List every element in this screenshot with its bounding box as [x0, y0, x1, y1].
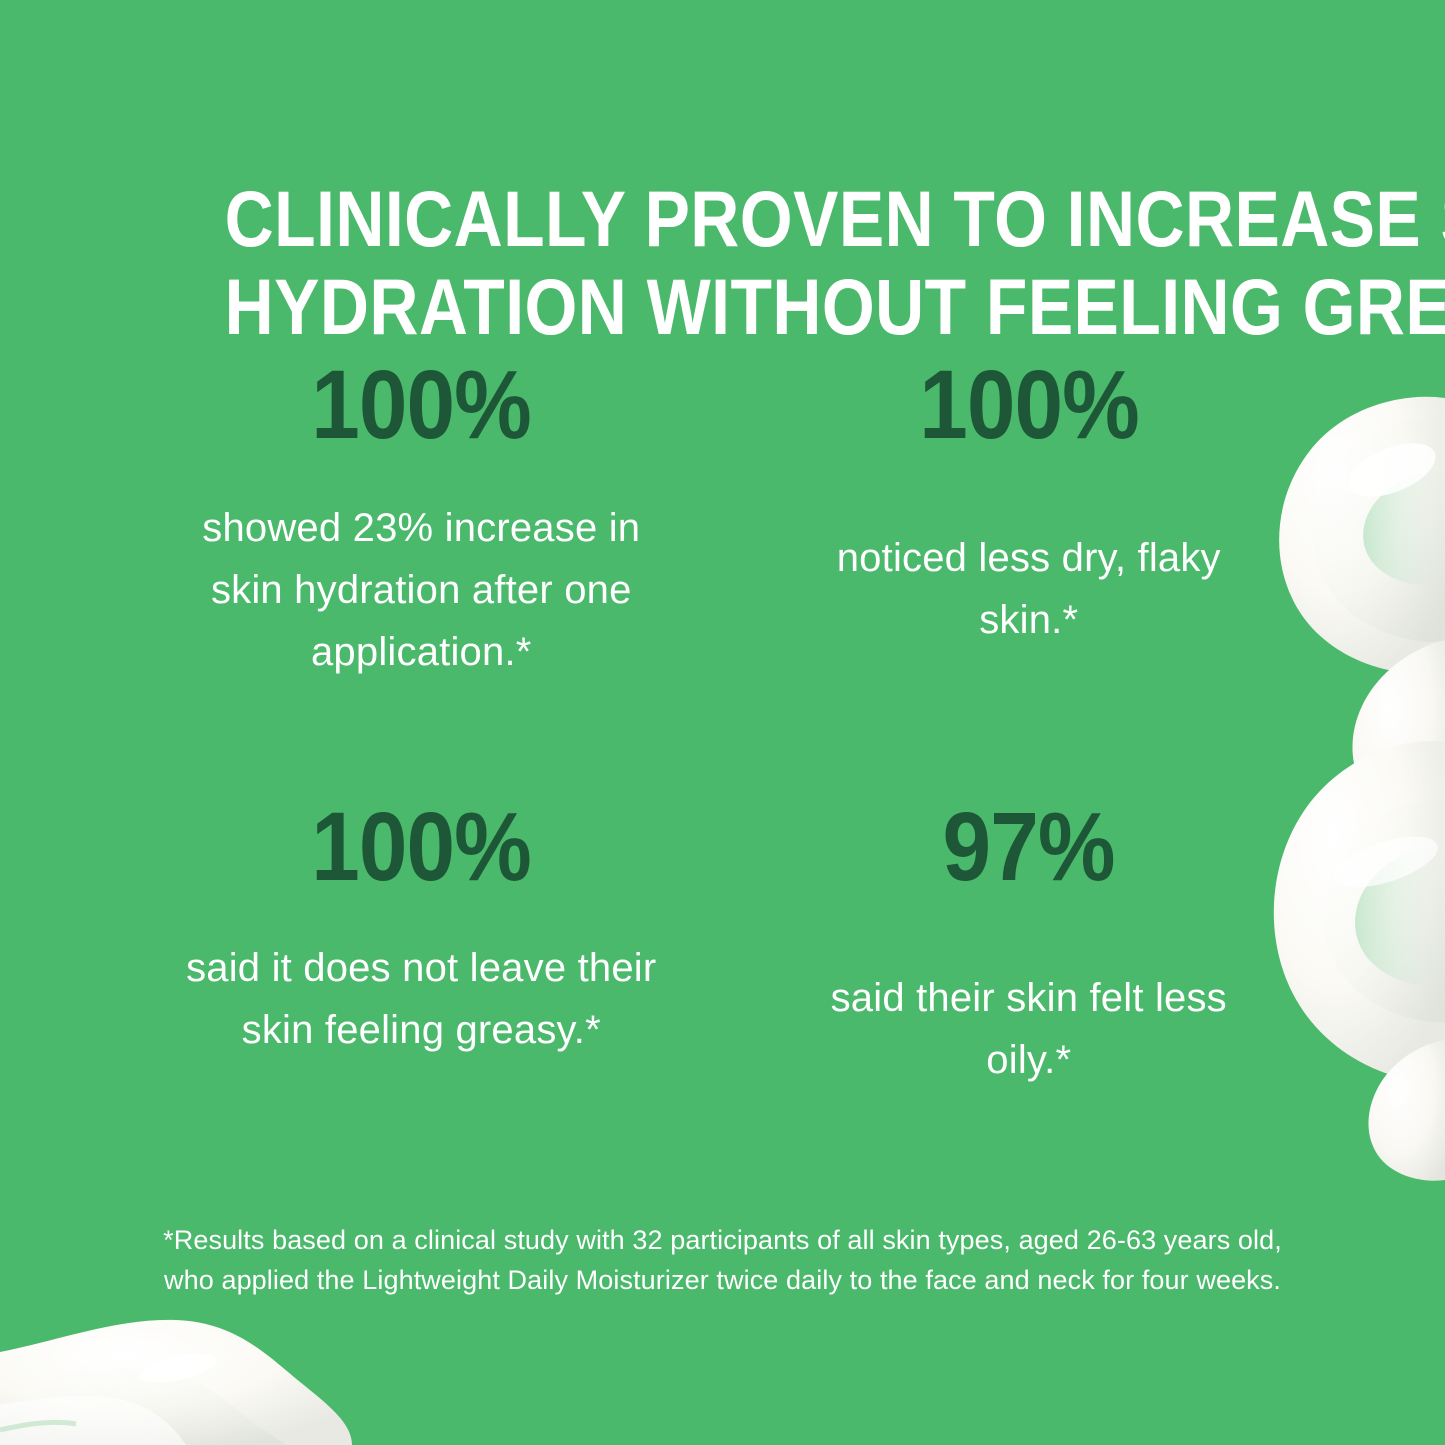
- cream-swirl-right-neck: [1352, 640, 1445, 838]
- stat-value: 97%: [943, 797, 1115, 897]
- stat-block-not-greasy: 100% said it does not leave their skin f…: [150, 775, 713, 1195]
- cream-swirl-right-tail: [1368, 1040, 1445, 1181]
- page-title: CLINICALLY PROVEN TO INCREASE SKIN HYDRA…: [225, 175, 1240, 351]
- infographic-canvas: CLINICALLY PROVEN TO INCREASE SKIN HYDRA…: [0, 0, 1445, 1445]
- stat-description: noticed less dry, flaky skin.*: [789, 527, 1269, 651]
- cream-swirl-right-upper: [1279, 397, 1445, 674]
- stat-block-less-oily: 97% said their skin felt less oily.*: [733, 775, 1296, 1195]
- stat-description: said their skin felt less oily.*: [789, 967, 1269, 1091]
- stat-block-less-flaky: 100% noticed less dry, flaky skin.*: [733, 355, 1296, 775]
- stat-value: 100%: [311, 797, 531, 897]
- stats-grid: 100% showed 23% increase in skin hydrati…: [150, 355, 1295, 1195]
- cream-swirl-bottom-left: [0, 1320, 352, 1445]
- stat-description: showed 23% increase in skin hydration af…: [181, 497, 661, 683]
- study-disclaimer: *Results based on a clinical study with …: [160, 1220, 1285, 1300]
- headline-line-2: HYDRATION WITHOUT FEELING GREASY.*: [225, 263, 1240, 351]
- stat-description: said it does not leave their skin feelin…: [181, 937, 661, 1061]
- stat-block-hydration-increase: 100% showed 23% increase in skin hydrati…: [150, 355, 713, 775]
- headline-line-1: CLINICALLY PROVEN TO INCREASE SKIN: [225, 175, 1240, 263]
- stat-value: 100%: [919, 355, 1139, 455]
- cream-swirl-right-lower: [1274, 741, 1445, 1082]
- stat-value: 100%: [311, 355, 531, 455]
